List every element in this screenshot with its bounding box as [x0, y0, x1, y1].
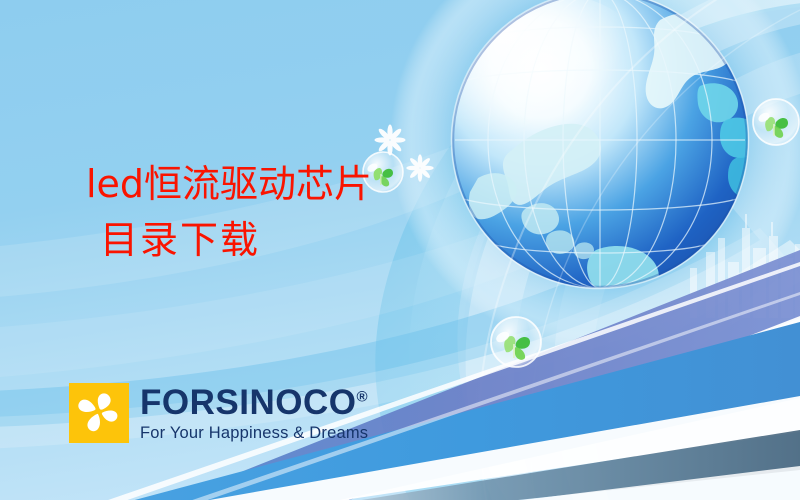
registered-trademark-icon: ®	[356, 388, 368, 405]
wordmark: FORSINOCO®	[140, 385, 368, 420]
promo-banner: led恒流驱动芯片 目录下载 FORSINOCO® For Your Happi…	[0, 0, 800, 500]
headline-line-2: 目录下载	[100, 221, 372, 259]
sparkle-group	[375, 125, 434, 182]
bubble-sprout-lower	[491, 317, 541, 367]
globe	[429, 0, 765, 300]
company-logo[interactable]: FORSINOCO® For Your Happiness & Dreams	[69, 383, 368, 443]
bubble-sprout-right	[753, 99, 799, 145]
tagline: For Your Happiness & Dreams	[140, 425, 368, 442]
light-beam-group	[650, 240, 800, 362]
city-skyline	[690, 214, 800, 318]
arc-swoosh-group	[375, 0, 800, 500]
accent-arc-group	[480, 0, 800, 500]
ribbon-group	[50, 250, 800, 500]
headline-line-1: led恒流驱动芯片	[86, 165, 372, 203]
headline: led恒流驱动芯片 目录下载	[86, 165, 372, 259]
wordmark-text: FORSINOCO	[140, 383, 356, 422]
logo-text-block: FORSINOCO® For Your Happiness & Dreams	[140, 385, 368, 442]
sparkle-star-1	[375, 125, 406, 156]
sparkle-star-2	[406, 154, 433, 181]
pinwheel-logo-icon	[69, 383, 129, 443]
